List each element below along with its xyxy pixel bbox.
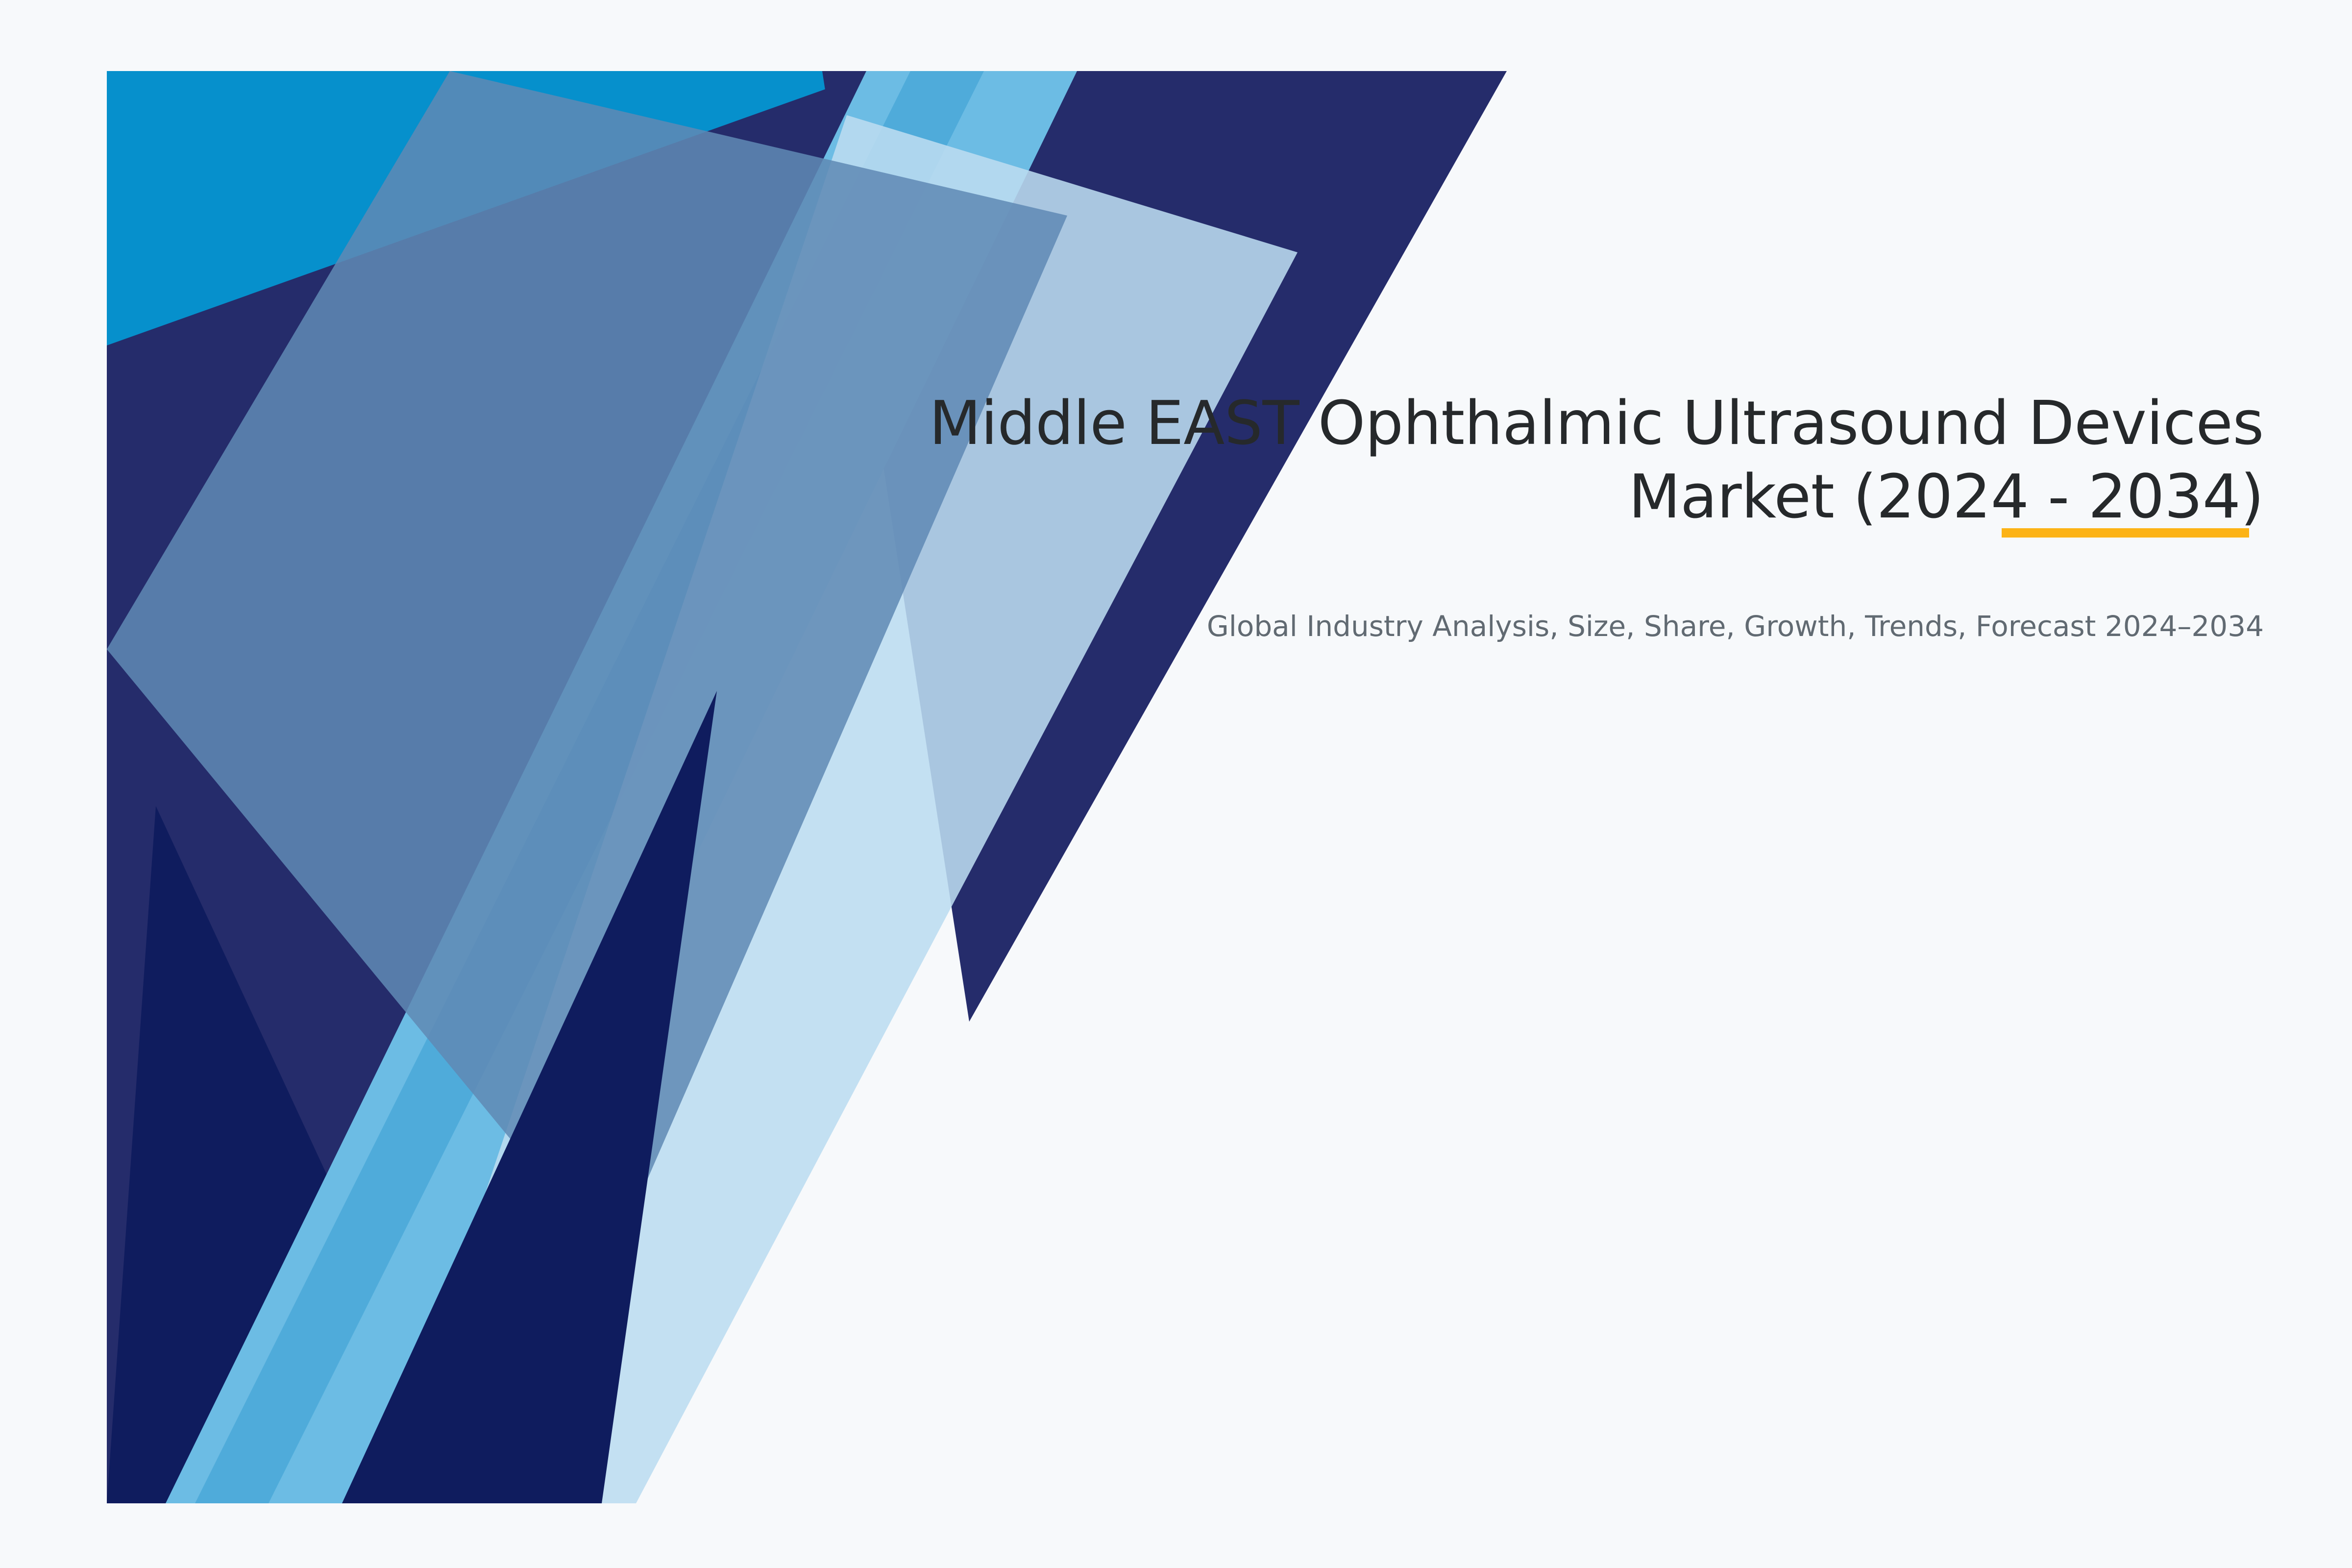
page-subtitle: Global Industry Analysis, Size, Share, G… bbox=[735, 534, 2264, 645]
artwork-svg bbox=[107, 71, 1508, 1503]
cover-page: Middle EAST Ophthalmic Ultrasound Device… bbox=[0, 0, 2352, 1568]
geometric-cover-graphic bbox=[107, 71, 1508, 1503]
cover-text-block: Middle EAST Ophthalmic Ultrasound Device… bbox=[735, 387, 2264, 645]
page-title: Middle EAST Ophthalmic Ultrasound Device… bbox=[735, 387, 2264, 534]
title-wrapper: Middle EAST Ophthalmic Ultrasound Device… bbox=[735, 387, 2264, 534]
